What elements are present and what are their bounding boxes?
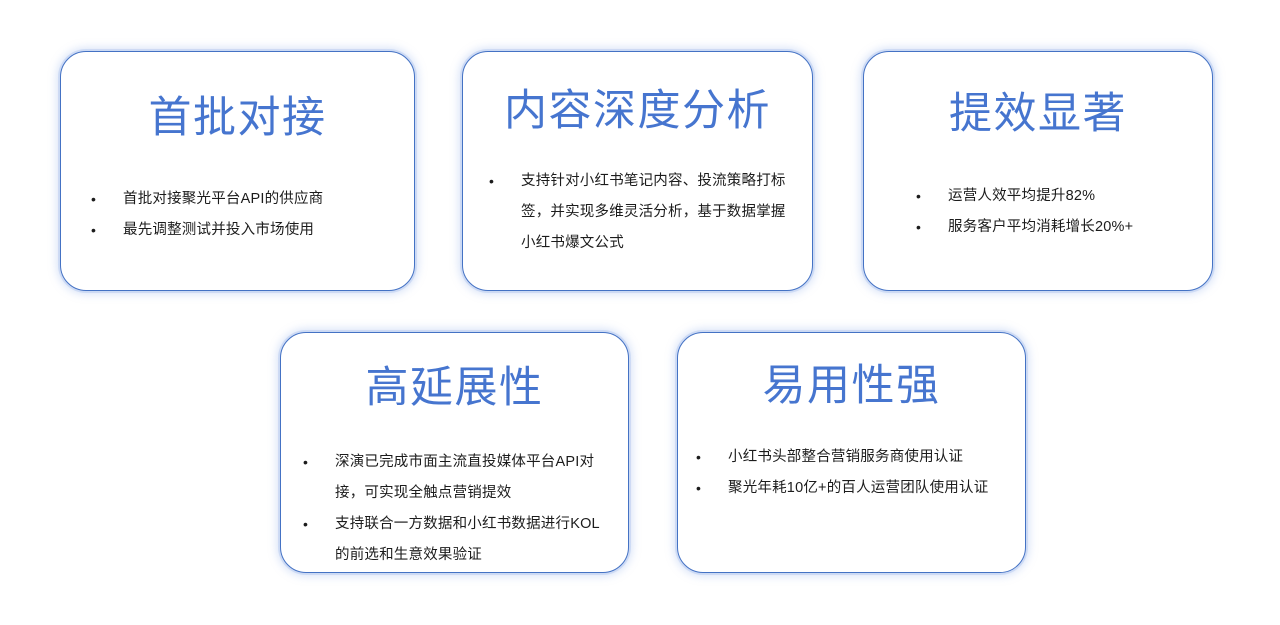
slide-canvas: 首批对接 • 首批对接聚光平台API的供应商 • 最先调整测试并投入市场使用 内… — [0, 0, 1280, 625]
card-bullet-list: • 深演已完成市面主流直投媒体平台API对接，可实现全触点营销提效 • 支持联合… — [301, 447, 628, 571]
bullet-icon: • — [89, 184, 123, 215]
list-item: • 首批对接聚光平台API的供应商 — [89, 184, 396, 215]
bullet-icon: • — [301, 447, 335, 478]
list-item: • 服务客户平均消耗增长20%+ — [914, 212, 1196, 243]
feature-card-usability[interactable]: 易用性强 • 小红书头部整合营销服务商使用认证 • 聚光年耗10亿+的百人运营团… — [677, 332, 1026, 573]
card-bullet-list: • 首批对接聚光平台API的供应商 • 最先调整测试并投入市场使用 — [89, 184, 414, 246]
list-item: • 支持针对小红书笔记内容、投流策略打标签，并实现多维灵活分析，基于数据掌握小红… — [487, 166, 798, 259]
list-item: • 深演已完成市面主流直投媒体平台API对接，可实现全触点营销提效 — [301, 447, 614, 509]
bullet-text: 深演已完成市面主流直投媒体平台API对接，可实现全触点营销提效 — [335, 447, 614, 509]
card-bullet-list: • 运营人效平均提升82% • 服务客户平均消耗增长20%+ — [914, 181, 1212, 243]
card-title: 内容深度分析 — [463, 89, 812, 134]
bullet-text: 服务客户平均消耗增长20%+ — [948, 212, 1196, 243]
bullet-icon: • — [487, 166, 521, 197]
bullet-text: 首批对接聚光平台API的供应商 — [123, 184, 396, 215]
bullet-icon: • — [694, 473, 728, 504]
bullet-text: 最先调整测试并投入市场使用 — [123, 215, 396, 246]
feature-card-first-integration[interactable]: 首批对接 • 首批对接聚光平台API的供应商 • 最先调整测试并投入市场使用 — [60, 51, 415, 291]
bullet-text: 聚光年耗10亿+的百人运营团队使用认证 — [728, 473, 1013, 504]
card-title: 首批对接 — [61, 96, 414, 141]
list-item: • 最先调整测试并投入市场使用 — [89, 215, 396, 246]
bullet-icon: • — [89, 215, 123, 246]
bullet-text: 支持针对小红书笔记内容、投流策略打标签，并实现多维灵活分析，基于数据掌握小红书爆… — [521, 166, 798, 259]
card-bullet-list: • 小红书头部整合营销服务商使用认证 • 聚光年耗10亿+的百人运营团队使用认证 — [694, 442, 1025, 504]
bullet-icon: • — [301, 509, 335, 540]
feature-card-content-analysis[interactable]: 内容深度分析 • 支持针对小红书笔记内容、投流策略打标签，并实现多维灵活分析，基… — [462, 51, 813, 291]
bullet-icon: • — [914, 212, 948, 243]
card-title: 易用性强 — [678, 364, 1025, 409]
feature-card-efficiency[interactable]: 提效显著 • 运营人效平均提升82% • 服务客户平均消耗增长20%+ — [863, 51, 1213, 291]
bullet-icon: • — [694, 442, 728, 473]
card-title: 高延展性 — [281, 366, 628, 411]
list-item: • 支持联合一方数据和小红书数据进行KOL的前选和生意效果验证 — [301, 509, 614, 571]
feature-card-extensibility[interactable]: 高延展性 • 深演已完成市面主流直投媒体平台API对接，可实现全触点营销提效 •… — [280, 332, 629, 573]
list-item: • 小红书头部整合营销服务商使用认证 — [694, 442, 1013, 473]
bullet-text: 小红书头部整合营销服务商使用认证 — [728, 442, 1013, 473]
bullet-icon: • — [914, 181, 948, 212]
card-bullet-list: • 支持针对小红书笔记内容、投流策略打标签，并实现多维灵活分析，基于数据掌握小红… — [487, 166, 812, 259]
bullet-text: 运营人效平均提升82% — [948, 181, 1196, 212]
list-item: • 运营人效平均提升82% — [914, 181, 1196, 212]
bullet-text: 支持联合一方数据和小红书数据进行KOL的前选和生意效果验证 — [335, 509, 614, 571]
list-item: • 聚光年耗10亿+的百人运营团队使用认证 — [694, 473, 1013, 504]
card-title: 提效显著 — [864, 92, 1212, 137]
